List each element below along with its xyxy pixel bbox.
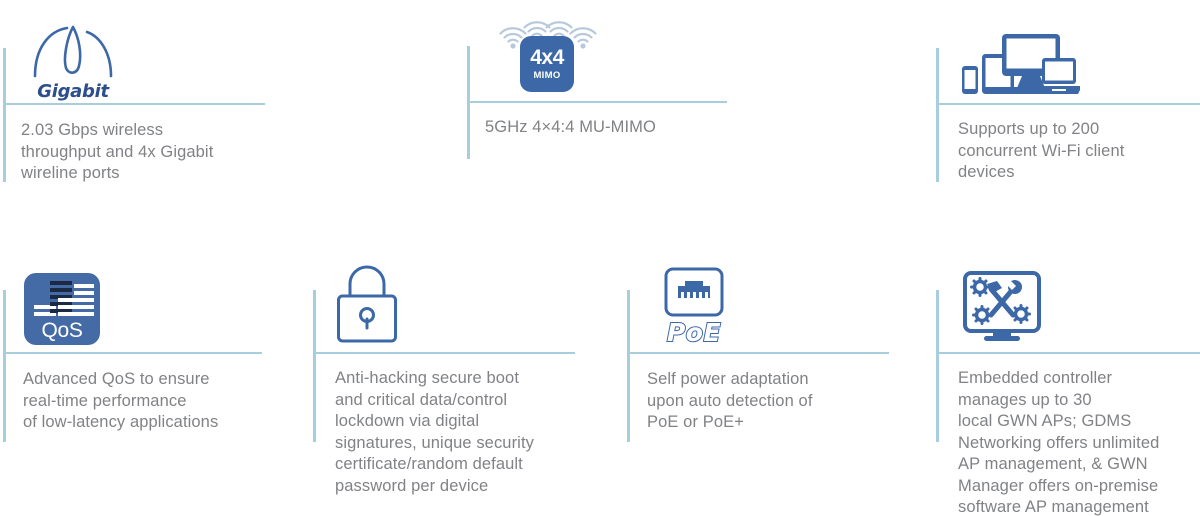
feature-card-poe: PoE Self power adaptation upon auto dete… — [627, 290, 889, 480]
accent-horizontal-rule — [467, 101, 727, 103]
feature-grid: Gigabit 2.03 Gbps wireless throughput an… — [0, 0, 1200, 516]
accent-vertical-rule — [627, 290, 630, 442]
monitor-tools-icon — [960, 270, 1044, 346]
feature-card-gigabit: Gigabit 2.03 Gbps wireless throughput an… — [3, 48, 265, 198]
feature-card-clients: Supports up to 200 concurrent Wi-Fi clie… — [936, 48, 1200, 198]
icon-zone: PoE — [655, 258, 733, 346]
feature-caption-security: Anti-hacking secure boot and critical da… — [335, 368, 589, 497]
feature-caption-mimo: 5GHz 4×4:4 MU-MIMO — [485, 117, 735, 139]
mimo-badge-primary: 4x4 — [530, 48, 564, 68]
icon-zone — [960, 258, 1044, 346]
poe-rj45-icon: PoE — [655, 266, 733, 346]
mimo-badge: 4x4 MIMO — [520, 36, 574, 92]
feature-card-qos: QoS Advanced QoS to ensure real-time per… — [3, 290, 265, 480]
padlock-icon — [331, 260, 403, 346]
accent-horizontal-rule — [3, 352, 262, 354]
gigabit-icon: Gigabit — [27, 24, 119, 102]
accent-horizontal-rule — [3, 103, 265, 105]
icon-zone: QoS — [24, 265, 100, 345]
icon-zone — [331, 258, 403, 346]
icon-zone: 4x4 MIMO — [493, 4, 601, 96]
mimo-badge-secondary: MIMO — [533, 70, 560, 81]
poe-icon-label: PoE — [655, 318, 733, 347]
qos-icon-label: QoS — [24, 319, 100, 343]
feature-caption-gigabit: 2.03 Gbps wireless throughput and 4x Gig… — [21, 120, 271, 185]
feature-caption-clients: Supports up to 200 concurrent Wi-Fi clie… — [958, 119, 1198, 184]
accent-horizontal-rule — [627, 352, 889, 354]
accent-vertical-rule — [3, 290, 6, 442]
feature-caption-qos: Advanced QoS to ensure real-time perform… — [23, 369, 273, 434]
accent-horizontal-rule — [936, 103, 1200, 105]
feature-card-controller: Embedded controller manages up to 30 loc… — [936, 290, 1200, 516]
accent-horizontal-rule — [313, 352, 575, 354]
feature-caption-controller: Embedded controller manages up to 30 loc… — [958, 368, 1200, 516]
feature-card-mimo: 4x4 MIMO 5GHz 4×4:4 MU-MIMO — [467, 46, 727, 201]
accent-vertical-rule — [936, 48, 939, 182]
accent-vertical-rule — [313, 290, 316, 442]
icon-zone: Gigabit — [27, 20, 119, 102]
multi-devices-icon — [960, 32, 1080, 98]
accent-horizontal-rule — [936, 352, 1200, 354]
feature-caption-poe: Self power adaptation upon auto detectio… — [647, 369, 897, 434]
qos-equalizer-icon: QoS — [24, 273, 100, 345]
mimo-4x4-icon: 4x4 MIMO — [493, 14, 601, 96]
accent-vertical-rule — [3, 48, 6, 182]
accent-vertical-rule — [936, 290, 939, 442]
feature-card-security: Anti-hacking secure boot and critical da… — [313, 290, 575, 510]
icon-zone — [960, 13, 1080, 98]
gigabit-icon-label: Gigabit — [27, 81, 119, 102]
